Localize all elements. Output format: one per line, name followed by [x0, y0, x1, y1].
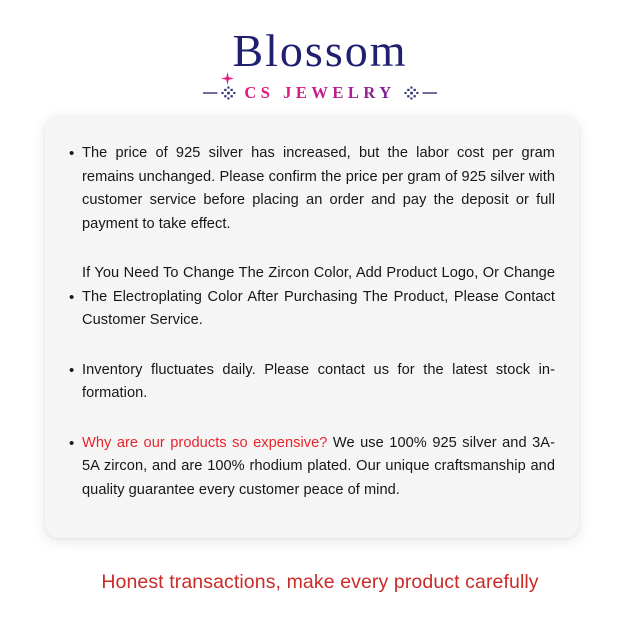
- notice-highlight-question: Why are our products so expensive?: [82, 435, 327, 451]
- sparkle-star-icon: [221, 47, 234, 60]
- notice-item-pricing-rationale-text: Why are our products so expensive? We us…: [82, 432, 555, 503]
- notice-item-pricing-rationale: • Why are our products so expensive? We …: [69, 432, 555, 503]
- bullet-marker-icon: •: [69, 432, 82, 455]
- flower-ornament-left-icon: [203, 86, 237, 100]
- notice-item-price: • The price of 925 silver has increased,…: [69, 142, 555, 236]
- notice-card: • The price of 925 silver has increased,…: [45, 116, 579, 538]
- notice-bullet-list: • The price of 925 silver has increased,…: [69, 142, 555, 502]
- bullet-marker-icon: •: [69, 142, 82, 165]
- brand-subtitle-text: CS JEWELRY: [244, 83, 395, 103]
- notice-item-inventory-text: Inventory fluctuates daily. Please conta…: [82, 359, 555, 406]
- brand-wordmark-text: Blossom: [232, 25, 407, 76]
- bullet-marker-icon: •: [69, 290, 82, 305]
- notice-item-customization: • If You Need To Change The Zircon Color…: [69, 262, 555, 333]
- flower-ornament-right-icon: [403, 86, 437, 100]
- notice-item-inventory: • Inventory fluctuates daily. Please con…: [69, 359, 555, 406]
- brand-subtitle-row: CS JEWELRY: [0, 83, 640, 103]
- brand-header: Blossom CS JEWELRY: [0, 0, 640, 103]
- notice-item-customization-text: If You Need To Change The Zircon Color, …: [82, 262, 555, 333]
- bullet-marker-icon: •: [69, 359, 82, 382]
- footer-slogan: Honest transactions, make every product …: [0, 569, 640, 595]
- brand-wordmark: Blossom: [232, 28, 407, 74]
- notice-item-price-text: The price of 925 silver has increased, b…: [82, 142, 555, 236]
